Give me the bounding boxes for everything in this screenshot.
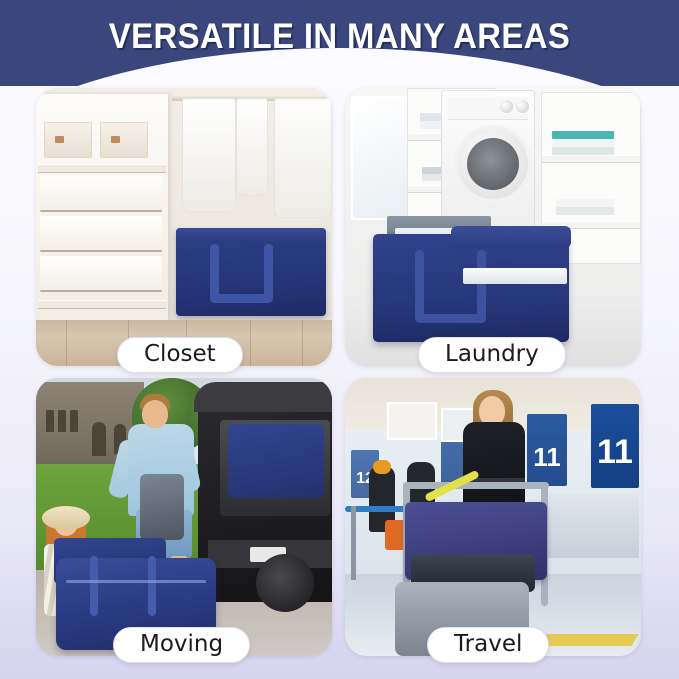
garment-bag [182, 98, 236, 212]
closet-photo [36, 88, 332, 366]
closet-drawer [40, 176, 162, 212]
card-label-closet[interactable]: Closet [117, 337, 243, 373]
garment-bag [274, 98, 332, 218]
straw-hat [42, 506, 90, 530]
feature-grid: Closet [0, 88, 679, 648]
navy-storage-bag [176, 228, 326, 316]
card-label-laundry[interactable]: Laundry [418, 337, 566, 373]
closet-drawer [40, 256, 162, 292]
navy-storage-bag [373, 234, 569, 342]
window [351, 96, 411, 220]
gate-sign-11: 11 [591, 404, 639, 488]
feature-card-travel[interactable]: 11 11 12 [345, 378, 641, 656]
grey-duffel [140, 474, 184, 540]
linens-in-bag [463, 268, 567, 284]
header-banner: VERSATILE IN MANY AREAS [0, 0, 679, 86]
feature-card-moving[interactable] [36, 378, 332, 656]
feature-card-closet[interactable] [36, 88, 332, 366]
wall-poster [387, 402, 437, 440]
feature-card-laundry[interactable] [345, 88, 641, 366]
gate-sign-11: 11 [527, 414, 567, 486]
garment-bag [236, 98, 268, 196]
closet-shelf-unit [36, 94, 168, 320]
card-label-travel[interactable]: Travel [427, 627, 549, 663]
navy-bag-in-trunk [228, 424, 324, 498]
card-label-moving[interactable]: Moving [113, 627, 250, 663]
storage-bin [44, 122, 92, 158]
check-in-counter [541, 494, 639, 558]
suv [198, 384, 332, 602]
closet-shelf [38, 164, 166, 173]
moving-photo [36, 378, 332, 656]
closet-drawer [40, 216, 162, 252]
orange-hat [373, 460, 391, 474]
cart-handle [403, 482, 549, 489]
travel-photo: 11 11 12 [345, 378, 641, 656]
closet-shelf [38, 300, 166, 309]
storage-bin [100, 122, 148, 158]
barrier-post [351, 506, 356, 580]
floor-marking [539, 634, 638, 646]
laundry-photo [345, 88, 641, 366]
man-head [142, 400, 168, 428]
